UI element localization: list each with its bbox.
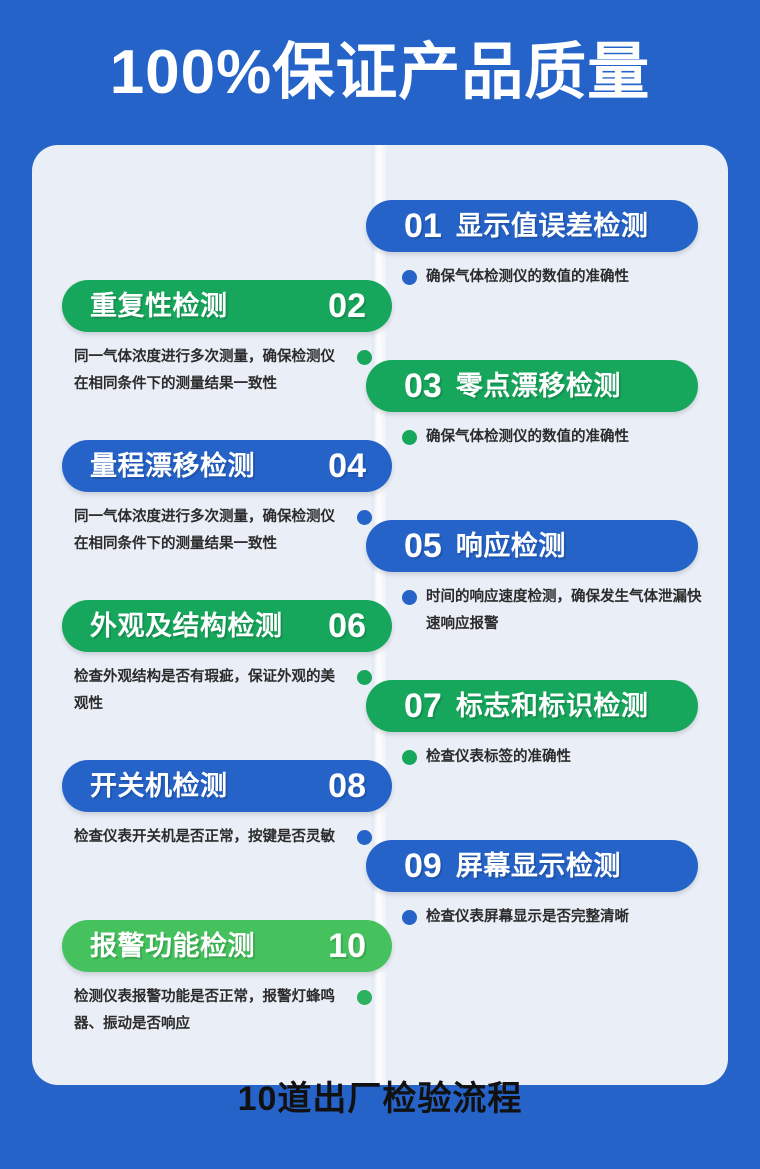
bullet-icon xyxy=(357,510,372,525)
item-number: 01 xyxy=(404,209,442,243)
bullet-icon xyxy=(357,670,372,685)
item-pill-05[interactable]: 05响应检测 xyxy=(366,520,698,572)
item-label: 标志和标识检测 xyxy=(456,693,649,720)
item-label: 外观及结构检测 xyxy=(90,613,283,640)
item-label: 重复性检测 xyxy=(90,293,228,320)
item-description-row: 时间的响应速度检测，确保发生气体泄漏快速响应报警 xyxy=(380,584,728,638)
page-title: 100%保证产品质量 xyxy=(110,42,651,104)
item-description: 确保气体检测仪的数值的准确性 xyxy=(426,264,714,291)
checklist-card: 01显示值误差检测确保气体检测仪的数值的准确性重复性检测02同一气体浓度进行多次… xyxy=(32,145,728,1085)
item-label: 开关机检测 xyxy=(90,773,228,800)
item-description: 检查仪表开关机是否正常，按键是否灵敏 xyxy=(74,824,348,851)
footer-banner: 10道出厂检验流程 xyxy=(32,1060,728,1130)
checklist-item-06: 外观及结构检测06检查外观结构是否有瑕疵，保证外观的美观性 xyxy=(32,600,378,718)
item-description: 检查仪表标签的准确性 xyxy=(426,744,714,771)
item-description-row: 检测仪表报警功能是否正常，报警灯蜂鸣器、振动是否响应 xyxy=(32,984,378,1038)
item-description: 确保气体检测仪的数值的准确性 xyxy=(426,424,714,451)
item-description-row: 检查外观结构是否有瑕疵，保证外观的美观性 xyxy=(32,664,378,718)
item-description-row: 确保气体检测仪的数值的准确性 xyxy=(380,264,728,291)
item-pill-07[interactable]: 07标志和标识检测 xyxy=(366,680,698,732)
item-number: 04 xyxy=(328,449,366,483)
item-number: 10 xyxy=(328,929,366,963)
bullet-icon xyxy=(402,430,417,445)
item-description-row: 检查仪表开关机是否正常，按键是否灵敏 xyxy=(32,824,378,851)
bullet-icon xyxy=(402,270,417,285)
checklist-item-08: 开关机检测08检查仪表开关机是否正常，按键是否灵敏 xyxy=(32,760,378,851)
header-banner: 100%保证产品质量 xyxy=(0,0,760,145)
checklist-item-07: 07标志和标识检测检查仪表标签的准确性 xyxy=(380,680,728,771)
item-description-row: 同一气体浓度进行多次测量，确保检测仪在相同条件下的测量结果一致性 xyxy=(32,504,378,558)
item-number: 07 xyxy=(404,689,442,723)
item-description-row: 检查仪表标签的准确性 xyxy=(380,744,728,771)
checklist-items: 01显示值误差检测确保气体检测仪的数值的准确性重复性检测02同一气体浓度进行多次… xyxy=(32,145,728,1085)
item-description: 同一气体浓度进行多次测量，确保检测仪在相同条件下的测量结果一致性 xyxy=(74,504,348,558)
bullet-icon xyxy=(357,990,372,1005)
item-description: 检查仪表屏幕显示是否完整清晰 xyxy=(426,904,714,931)
checklist-item-09: 09屏幕显示检测检查仪表屏幕显示是否完整清晰 xyxy=(380,840,728,931)
item-pill-04[interactable]: 量程漂移检测04 xyxy=(62,440,392,492)
checklist-item-02: 重复性检测02同一气体浓度进行多次测量，确保检测仪在相同条件下的测量结果一致性 xyxy=(32,280,378,398)
checklist-item-03: 03零点漂移检测确保气体检测仪的数值的准确性 xyxy=(380,360,728,451)
bullet-icon xyxy=(402,750,417,765)
footer-title: 10道出厂检验流程 xyxy=(238,1071,523,1120)
item-number: 02 xyxy=(328,289,366,323)
checklist-item-01: 01显示值误差检测确保气体检测仪的数值的准确性 xyxy=(380,200,728,291)
item-description: 检测仪表报警功能是否正常，报警灯蜂鸣器、振动是否响应 xyxy=(74,984,348,1038)
item-description: 同一气体浓度进行多次测量，确保检测仪在相同条件下的测量结果一致性 xyxy=(74,344,348,398)
item-pill-10[interactable]: 报警功能检测10 xyxy=(62,920,392,972)
bullet-icon xyxy=(357,350,372,365)
item-pill-03[interactable]: 03零点漂移检测 xyxy=(366,360,698,412)
item-pill-01[interactable]: 01显示值误差检测 xyxy=(366,200,698,252)
item-number: 03 xyxy=(404,369,442,403)
item-number: 06 xyxy=(328,609,366,643)
item-description: 时间的响应速度检测，确保发生气体泄漏快速响应报警 xyxy=(426,584,714,638)
item-label: 响应检测 xyxy=(456,533,566,560)
item-number: 09 xyxy=(404,849,442,883)
item-label: 零点漂移检测 xyxy=(456,373,621,400)
checklist-item-05: 05响应检测时间的响应速度检测，确保发生气体泄漏快速响应报警 xyxy=(380,520,728,638)
item-label: 显示值误差检测 xyxy=(456,213,649,240)
checklist-item-04: 量程漂移检测04同一气体浓度进行多次测量，确保检测仪在相同条件下的测量结果一致性 xyxy=(32,440,378,558)
checklist-item-10: 报警功能检测10检测仪表报警功能是否正常，报警灯蜂鸣器、振动是否响应 xyxy=(32,920,378,1038)
item-pill-06[interactable]: 外观及结构检测06 xyxy=(62,600,392,652)
item-number: 08 xyxy=(328,769,366,803)
item-pill-02[interactable]: 重复性检测02 xyxy=(62,280,392,332)
item-pill-09[interactable]: 09屏幕显示检测 xyxy=(366,840,698,892)
item-label: 报警功能检测 xyxy=(90,933,255,960)
item-number: 05 xyxy=(404,529,442,563)
bullet-icon xyxy=(402,590,417,605)
bullet-icon xyxy=(357,830,372,845)
bullet-icon xyxy=(402,910,417,925)
item-description-row: 同一气体浓度进行多次测量，确保检测仪在相同条件下的测量结果一致性 xyxy=(32,344,378,398)
item-label: 量程漂移检测 xyxy=(90,453,255,480)
item-description-row: 检查仪表屏幕显示是否完整清晰 xyxy=(380,904,728,931)
item-description-row: 确保气体检测仪的数值的准确性 xyxy=(380,424,728,451)
item-pill-08[interactable]: 开关机检测08 xyxy=(62,760,392,812)
item-label: 屏幕显示检测 xyxy=(456,853,621,880)
item-description: 检查外观结构是否有瑕疵，保证外观的美观性 xyxy=(74,664,348,718)
